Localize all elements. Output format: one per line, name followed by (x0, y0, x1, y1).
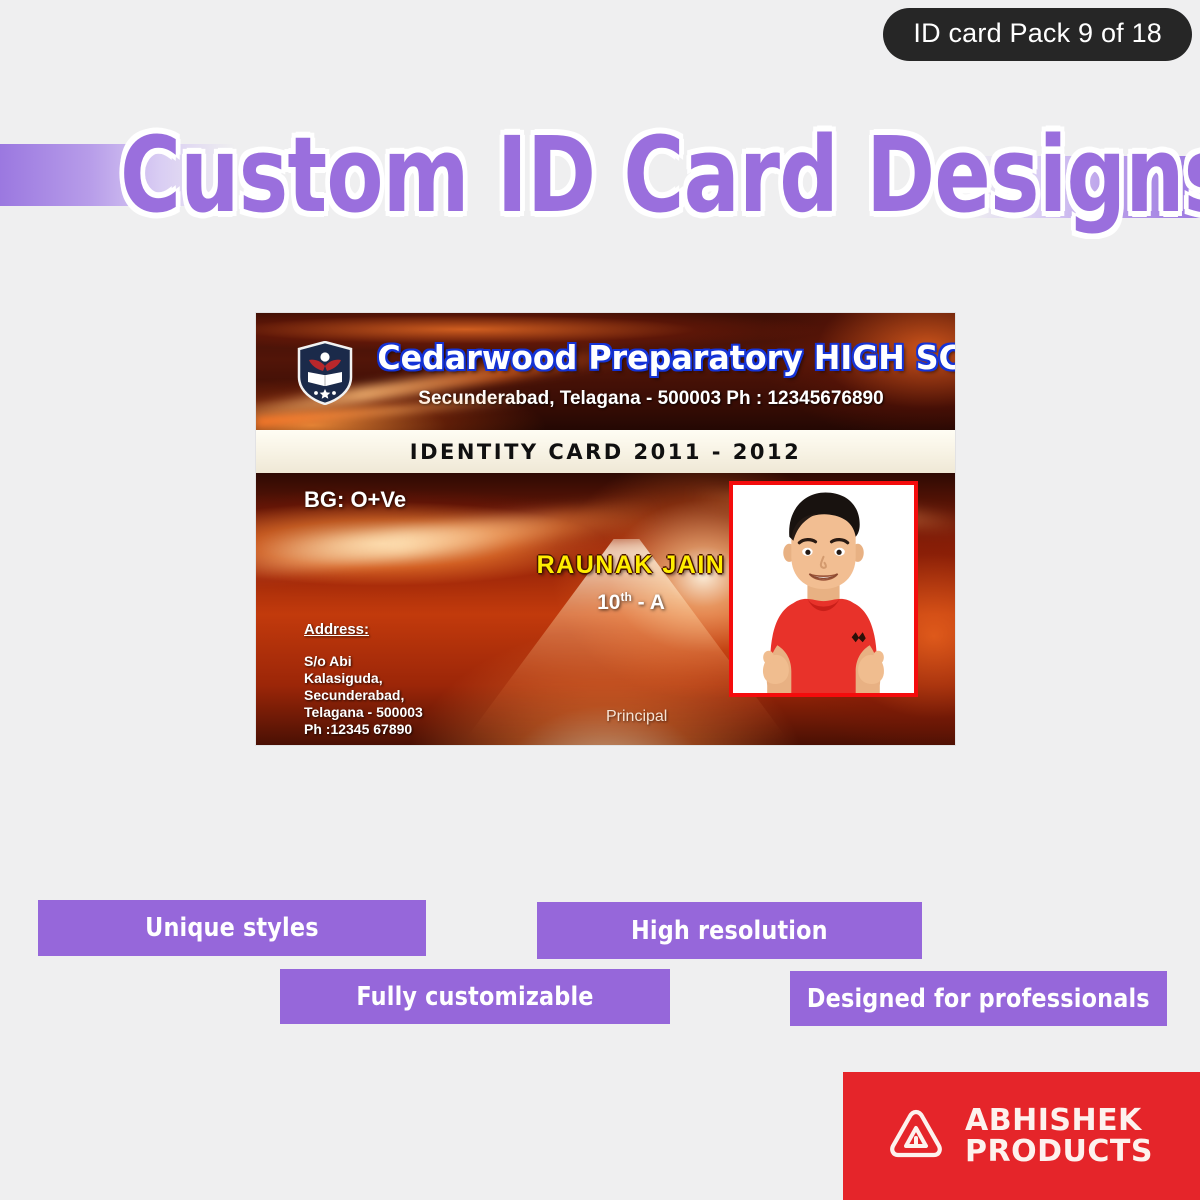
address-lines: S/o Abi Kalasiguda, Secunderabad, Telaga… (304, 653, 423, 738)
feature-tag-high-resolution: High resolution (537, 902, 922, 959)
student-photo (729, 481, 918, 697)
identity-card-band: IDENTITY CARD 2011 - 2012 (256, 430, 955, 473)
brand-logo: ABHISHEK PRODUCTS (843, 1072, 1200, 1200)
student-class-suffix: th (620, 590, 631, 604)
pack-badge: ID card Pack 9 of 18 (883, 8, 1192, 61)
address-line: S/o Abi (304, 653, 423, 670)
feature-tag-designed-for-professionals: Designed for professionals (790, 971, 1167, 1026)
student-photo-image (733, 485, 914, 693)
feature-tag-unique-styles: Unique styles (38, 900, 426, 956)
headline-band: Custom ID Card Designs (0, 112, 1200, 238)
id-card-header: Cedarwood Preparatory HIGH SCHOOL Secund… (256, 313, 955, 430)
feature-tag-label: Designed for professionals (807, 984, 1150, 1014)
student-class-number: 10 (597, 591, 620, 614)
feature-tag-label: Fully customizable (356, 982, 593, 1012)
id-card-preview: Cedarwood Preparatory HIGH SCHOOL Secund… (256, 313, 955, 745)
feature-tag-label: Unique styles (145, 913, 319, 943)
page-title: Custom ID Card Designs (120, 112, 1080, 238)
identity-card-band-text: IDENTITY CARD 2011 - 2012 (410, 440, 801, 464)
address-line: Secunderabad, (304, 687, 423, 704)
address-label: Address: (304, 621, 369, 638)
school-name: Cedarwood Preparatory HIGH SCHOOL (377, 339, 924, 377)
school-address: Secunderabad, Telagana - 500003 Ph : 123… (366, 387, 936, 411)
brand-text: ABHISHEK PRODUCTS (965, 1105, 1153, 1167)
feature-tag-label: High resolution (631, 916, 828, 946)
school-crest-icon (296, 341, 354, 405)
abhishek-triangle-logo-icon (885, 1105, 947, 1167)
blood-group-value: BG: O+Ve (304, 487, 406, 513)
address-line: Kalasiguda, (304, 670, 423, 687)
brand-line-1: ABHISHEK (965, 1105, 1153, 1136)
id-card-body: BG: O+Ve RAUNAK JAIN 10th - A Address: S… (256, 473, 955, 745)
principal-signature-label: Principal (606, 708, 667, 726)
address-line: Telagana - 500003 (304, 704, 423, 721)
brand-line-2: PRODUCTS (965, 1136, 1153, 1167)
student-section: - A (632, 591, 665, 614)
feature-tag-fully-customizable: Fully customizable (280, 969, 670, 1024)
address-line: Ph :12345 67890 (304, 721, 423, 738)
